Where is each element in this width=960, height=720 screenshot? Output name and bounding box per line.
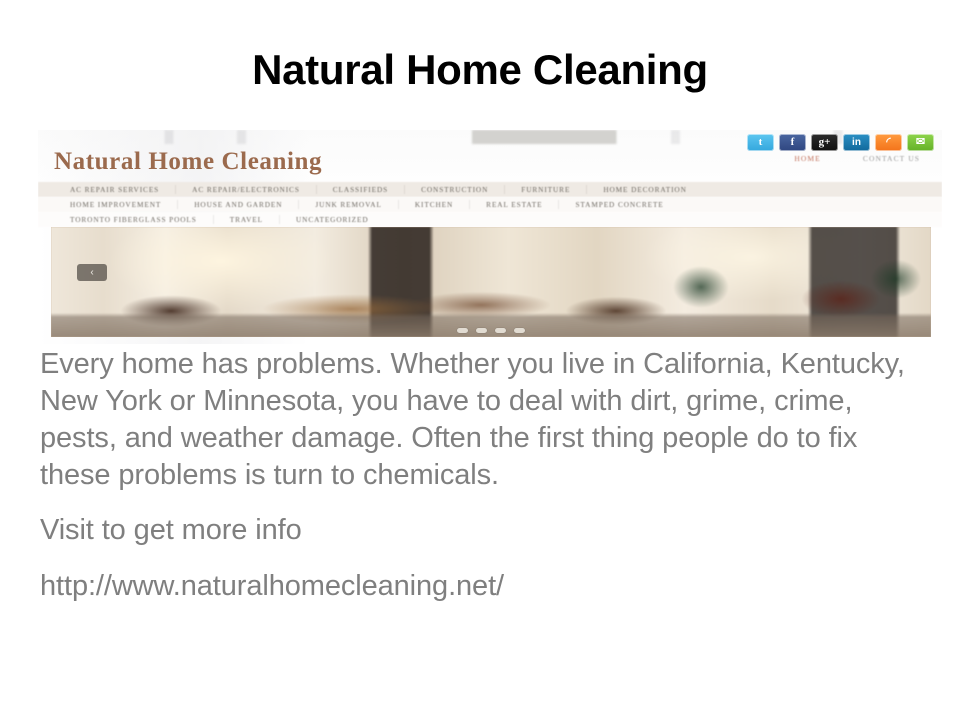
page-title: Natural Home Cleaning <box>0 48 960 92</box>
rss-icon[interactable]: ◜ <box>875 134 902 151</box>
nav-item-furniture[interactable]: FURNITURE <box>505 185 587 194</box>
slider-dot[interactable] <box>457 328 468 333</box>
hero-interior-photo <box>51 227 931 337</box>
email-icon[interactable]: ✉ <box>907 134 934 151</box>
nav-item-real-estate[interactable]: REAL ESTATE <box>470 200 559 209</box>
nav-item-home-decoration[interactable]: HOME DECORATION <box>587 185 702 194</box>
slider-dot[interactable] <box>476 328 487 333</box>
hero-slider: ‹ <box>51 227 931 337</box>
nav-item-classifieds[interactable]: CLASSIFIEDS <box>317 185 405 194</box>
twitter-icon[interactable]: t <box>747 134 774 151</box>
slider-prev-arrow-icon[interactable]: ‹ <box>77 264 107 281</box>
nav-item-kitchen[interactable]: KITCHEN <box>399 200 470 209</box>
nav-item-house-and-garden[interactable]: HOUSE AND GARDEN <box>178 200 299 209</box>
linkedin-icon[interactable]: in <box>843 134 870 151</box>
nav-link-home[interactable]: HOME <box>794 154 820 163</box>
nav-row: HOME IMPROVEMENT HOUSE AND GARDEN JUNK R… <box>38 197 942 212</box>
facebook-icon[interactable]: f <box>779 134 806 151</box>
nav-item-uncategorized[interactable]: UNCATEGORIZED <box>280 215 385 224</box>
site-category-nav: AC REPAIR SERVICES AC REPAIR/ELECTRONICS… <box>38 182 942 227</box>
nav-item-stamped-concrete[interactable]: STAMPED CONCRETE <box>559 200 679 209</box>
nav-item-travel[interactable]: TRAVEL <box>214 215 280 224</box>
nav-link-contact-us[interactable]: CONTACT US <box>863 154 920 163</box>
slider-pagination-dots <box>51 328 931 333</box>
nav-item-ac-repair-electronics[interactable]: AC REPAIR/ELECTRONICS <box>176 185 317 194</box>
slider-dot[interactable] <box>495 328 506 333</box>
social-icon-row: t f g+ in ◜ ✉ <box>747 134 934 151</box>
slide-body: Every home has problems. Whether you liv… <box>40 346 930 605</box>
google-plus-icon[interactable]: g+ <box>811 134 838 151</box>
slider-dot[interactable] <box>514 328 525 333</box>
nav-row: TORONTO FIBERGLASS POOLS TRAVEL UNCATEGO… <box>38 212 942 227</box>
nav-item-junk-removal[interactable]: JUNK REMOVAL <box>299 200 398 209</box>
site-top-nav: HOME CONTACT US <box>794 154 920 163</box>
embedded-website-screenshot: t f g+ in ◜ ✉ Natural Home Cleaning HOME… <box>38 130 942 344</box>
site-logo[interactable]: Natural Home Cleaning <box>54 148 322 176</box>
nav-item-toronto-fiberglass-pools[interactable]: TORONTO FIBERGLASS POOLS <box>54 215 214 224</box>
nav-row: AC REPAIR SERVICES AC REPAIR/ELECTRONICS… <box>38 182 942 197</box>
nav-item-home-improvement[interactable]: HOME IMPROVEMENT <box>54 200 178 209</box>
nav-item-construction[interactable]: CONSTRUCTION <box>405 185 505 194</box>
body-url[interactable]: http://www.naturalhomecleaning.net/ <box>40 568 930 605</box>
body-cta: Visit to get more info <box>40 512 930 549</box>
body-paragraph: Every home has problems. Whether you liv… <box>40 346 930 494</box>
nav-item-ac-repair-services[interactable]: AC REPAIR SERVICES <box>54 185 176 194</box>
